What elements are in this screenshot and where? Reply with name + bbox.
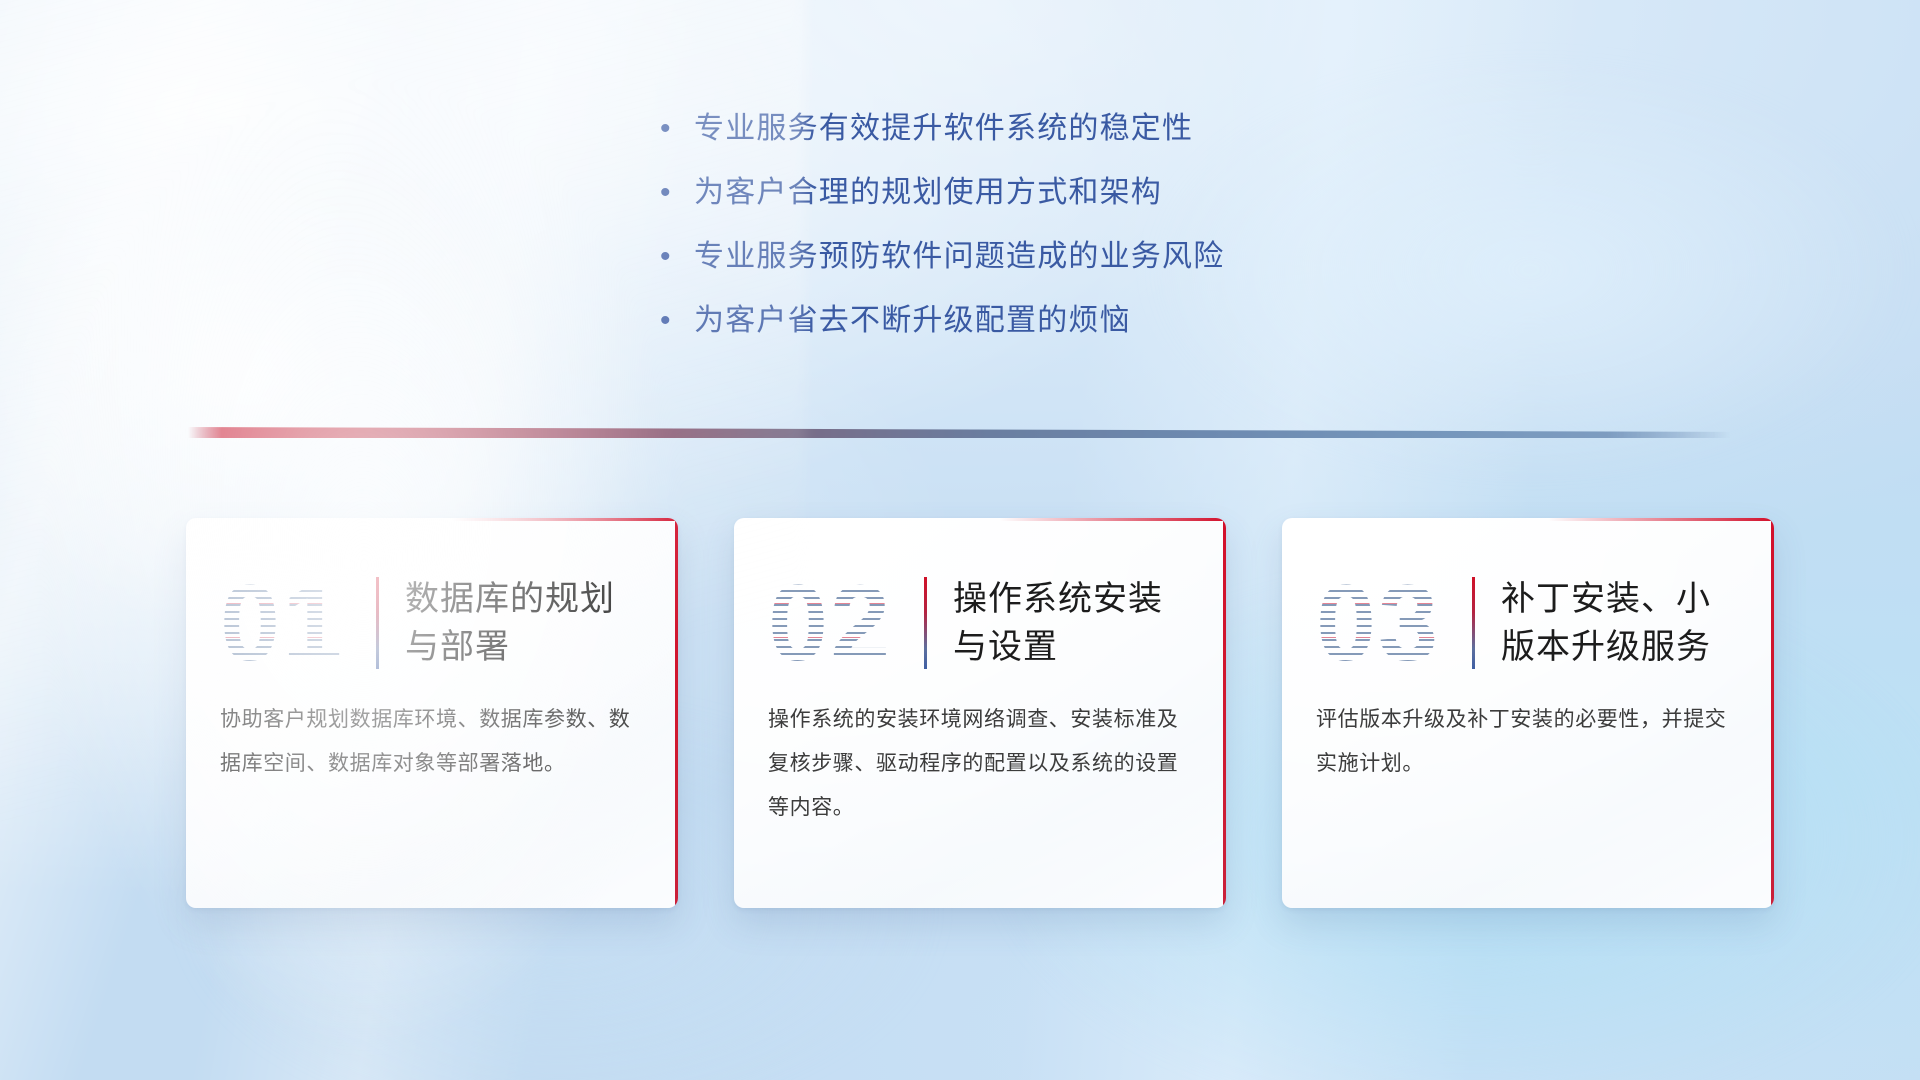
- card-title: 补丁安装、小版本升级服务: [1501, 575, 1740, 671]
- card-top-accent: [1000, 518, 1226, 521]
- card-description: 协助客户规划数据库环境、数据库参数、数据库空间、数据库对象等部署落地。: [186, 688, 678, 786]
- bullet-dot-icon: •: [660, 108, 694, 150]
- card-title: 操作系统安装与设置: [953, 575, 1192, 671]
- bullet-dot-icon: •: [660, 172, 694, 214]
- card-right-accent: [675, 518, 678, 908]
- bullet-text: 专业服务预防软件问题造成的业务风险: [694, 236, 1224, 278]
- card-number: 01: [220, 569, 372, 677]
- bullet-dot-icon: •: [660, 300, 694, 342]
- card-description: 操作系统的安装环境网络调查、安装标准及复核步骤、驱动程序的配置以及系统的设置等内…: [734, 688, 1226, 830]
- list-item: • 专业服务有效提升软件系统的稳定性: [660, 108, 1480, 150]
- card-header: 03 补丁安装、小版本升级服务: [1282, 518, 1774, 688]
- list-item: • 专业服务预防软件问题造成的业务风险: [660, 236, 1480, 278]
- bullet-text: 为客户省去不断升级配置的烦恼: [694, 300, 1131, 342]
- card-divider-bar: [376, 577, 379, 669]
- card-top-accent: [1548, 518, 1774, 521]
- card-divider-bar: [924, 577, 927, 669]
- card-top-accent: [452, 518, 678, 521]
- list-item: • 为客户合理的规划使用方式和架构: [660, 172, 1480, 214]
- card-right-accent: [1771, 518, 1774, 908]
- card-number: 03: [1316, 569, 1468, 677]
- card-divider-bar: [1472, 577, 1475, 669]
- slide-canvas: • 专业服务有效提升软件系统的稳定性 • 为客户合理的规划使用方式和架构 • 专…: [0, 0, 1920, 1080]
- list-item: • 为客户省去不断升级配置的烦恼: [660, 300, 1480, 342]
- benefits-bullet-list: • 专业服务有效提升软件系统的稳定性 • 为客户合理的规划使用方式和架构 • 专…: [660, 108, 1480, 364]
- service-card-group: 01 数据库的规划与部署 协助客户规划数据库环境、数据库参数、数据库空间、数据库…: [186, 518, 1774, 908]
- service-card-03[interactable]: 03 补丁安装、小版本升级服务 评估版本升级及补丁安装的必要性，并提交实施计划。: [1282, 518, 1774, 908]
- card-number: 02: [768, 569, 920, 677]
- card-right-accent: [1223, 518, 1226, 908]
- bullet-dot-icon: •: [660, 236, 694, 278]
- card-title: 数据库的规划与部署: [405, 575, 644, 671]
- card-description: 评估版本升级及补丁安装的必要性，并提交实施计划。: [1282, 688, 1774, 786]
- service-card-02[interactable]: 02 操作系统安装与设置 操作系统的安装环境网络调查、安装标准及复核步骤、驱动程…: [734, 518, 1226, 908]
- bullet-text: 专业服务有效提升软件系统的稳定性: [694, 108, 1193, 150]
- bullet-text: 为客户合理的规划使用方式和架构: [694, 172, 1162, 214]
- section-divider: [188, 427, 1730, 438]
- card-header: 01 数据库的规划与部署: [186, 518, 678, 688]
- card-header: 02 操作系统安装与设置: [734, 518, 1226, 688]
- service-card-01[interactable]: 01 数据库的规划与部署 协助客户规划数据库环境、数据库参数、数据库空间、数据库…: [186, 518, 678, 908]
